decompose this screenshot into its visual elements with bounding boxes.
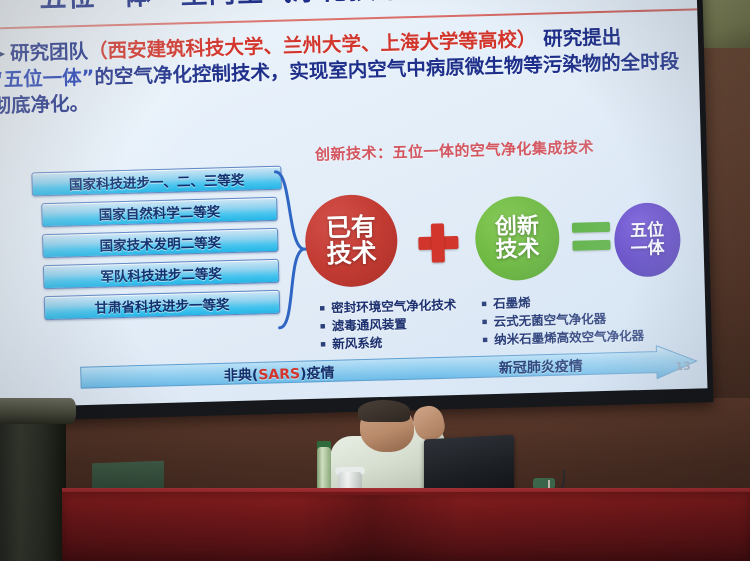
award-label: 国家科技进步一、二、三等奖 — [69, 169, 245, 194]
existing-tech-circle: 已有 技术 — [304, 194, 398, 288]
sars-suffix: )疫情 — [300, 365, 335, 382]
slide-page-number: 13 — [675, 360, 691, 373]
award-label: 国家自然科学二等奖 — [98, 200, 220, 223]
award-box: 军队科技进步二等奖 — [43, 259, 280, 289]
slide-title: “五位一体” 室内空气净化技术 — [20, 0, 701, 16]
award-box: 甘肃省科技进步一等奖 — [44, 290, 281, 320]
existing-tech-list: 密封环境空气净化技术 滤毒通风装置 新风系统 — [319, 296, 458, 354]
slide-content: “五位一体” 室内空气净化技术 ➤研究团队（西安建筑科技大学、兰州大学、上海大学… — [0, 0, 707, 408]
table-cloth-fold — [300, 495, 460, 561]
five-in-one-line1: 五位 — [630, 221, 664, 240]
existing-tech-line1: 已有 — [326, 214, 377, 242]
award-box: 国家科技进步一、二、三等奖 — [31, 166, 282, 197]
list-item: 密封环境空气净化技术 — [319, 296, 457, 318]
arrow-shape-icon — [78, 344, 699, 395]
plus-operator-icon — [416, 220, 461, 265]
slide-paragraph: ➤研究团队（西安建筑科技大学、兰州大学、上海大学等高校） 研究提出 “五位一体”… — [0, 22, 698, 119]
timeline-label-covid: 新冠肺炎疫情 — [499, 356, 584, 378]
award-label: 甘肃省科技进步一等奖 — [94, 293, 229, 317]
award-label: 军队科技进步二等奖 — [100, 262, 222, 285]
innovative-tech-line2: 技术 — [495, 238, 540, 262]
paragraph-seg-team: 研究团队 — [10, 40, 89, 65]
innovative-tech-line1: 创新 — [495, 214, 540, 238]
list-item: 新风系统 — [320, 332, 458, 354]
timeline-arrow: 非典(SARS)疫情 新冠肺炎疫情 — [78, 344, 699, 395]
existing-tech-line2: 技术 — [326, 240, 377, 268]
equals-operator-icon — [572, 222, 611, 253]
innovation-caption: 创新技术：五位一体的空气净化集成技术 — [315, 136, 594, 165]
podium — [0, 405, 66, 561]
podium-top — [0, 398, 76, 424]
timeline-label-sars: 非典(SARS)疫情 — [224, 362, 335, 385]
five-in-one-circle: 五位 一体 — [613, 202, 681, 278]
photo-scene: “五位一体” 室内空气净化技术 ➤研究团队（西安建筑科技大学、兰州大学、上海大学… — [0, 0, 750, 561]
sars-prefix: 非典( — [224, 367, 259, 384]
paragraph-seg-proposed: 研究提出 — [543, 25, 622, 50]
paragraph-bullet-icon: ➤ — [0, 41, 6, 67]
presenter-hair — [358, 400, 410, 422]
paragraph-seg-five-in-one: “五位一体” — [0, 66, 95, 92]
award-list: 国家科技进步一、二、三等奖 国家自然科学二等奖 国家技术发明二等奖 军队科技进步… — [31, 166, 285, 328]
award-box: 国家自然科学二等奖 — [41, 197, 278, 227]
innovative-tech-list: 石墨烯 云式无菌空气净化器 纳米石墨烯高效空气净化器 — [481, 291, 645, 349]
sars-acronym: SARS — [258, 366, 300, 383]
five-in-one-line2: 一体 — [630, 239, 664, 258]
award-box: 国家技术发明二等奖 — [42, 228, 279, 258]
projection-screen: “五位一体” 室内空气净化技术 ➤研究团队（西安建筑科技大学、兰州大学、上海大学… — [0, 0, 707, 408]
award-label: 国家技术发明二等奖 — [99, 231, 221, 254]
innovative-tech-circle: 创新 技术 — [474, 195, 560, 281]
